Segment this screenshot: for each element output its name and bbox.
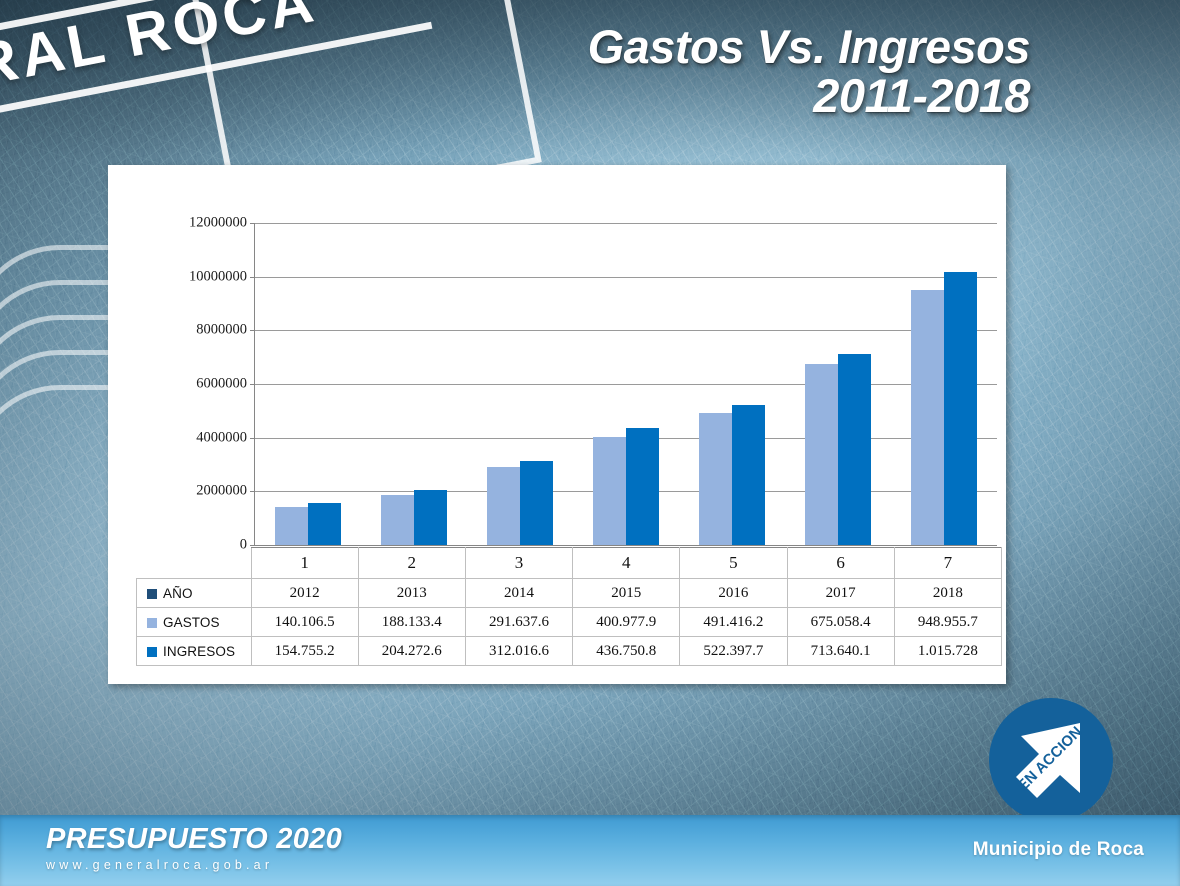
- x-axis-category: 4: [573, 548, 680, 579]
- bar-gastos[interactable]: [275, 507, 308, 545]
- table-row: INGRESOS154.755.2204.272.6312.016.6436.7…: [137, 637, 1002, 666]
- bar-ingresos[interactable]: [944, 272, 977, 545]
- y-axis-tick: [250, 545, 255, 546]
- y-axis-label: 8000000: [196, 322, 247, 339]
- x-axis-category: 3: [465, 548, 572, 579]
- bar-ingresos[interactable]: [520, 461, 553, 545]
- table-row-label: AÑO: [137, 579, 252, 608]
- table-cell: 2017: [787, 579, 894, 608]
- footer-org: Municipio de Roca: [973, 839, 1144, 861]
- en-accion-logo-icon: EN ACCION: [988, 697, 1114, 823]
- table-cell: 491.416.2: [680, 608, 787, 637]
- x-axis-category: 2: [358, 548, 465, 579]
- table-cell: 140.106.5: [251, 608, 358, 637]
- y-axis-label: 12000000: [189, 215, 247, 232]
- x-axis-row: 1234567: [137, 548, 1002, 579]
- y-axis-label: 4000000: [196, 429, 247, 446]
- table-cell: 188.133.4: [358, 608, 465, 637]
- table-cell: 2012: [251, 579, 358, 608]
- footer-brand-block: PRESUPUESTO 2020 www.generalroca.gob.ar: [46, 823, 342, 872]
- table-cell: 400.977.9: [573, 608, 680, 637]
- bar-series-container: [255, 223, 997, 545]
- bar-ingresos[interactable]: [308, 503, 341, 545]
- table-cell: 522.397.7: [680, 637, 787, 666]
- title-line-1: Gastos Vs. Ingresos: [588, 22, 1030, 71]
- table-cell: 2014: [465, 579, 572, 608]
- table-cell: 2018: [894, 579, 1001, 608]
- bar-ingresos[interactable]: [732, 405, 765, 545]
- table-cell: 312.016.6: [465, 637, 572, 666]
- table-row: AÑO2012201320142015201620172018: [137, 579, 1002, 608]
- bar-gastos[interactable]: [593, 437, 626, 545]
- chart-panel: 0200000040000006000000800000010000000120…: [108, 165, 1006, 684]
- gridline: [255, 545, 997, 546]
- x-axis-category: 7: [894, 548, 1001, 579]
- bar-group: [573, 223, 679, 545]
- table-row-label: GASTOS: [137, 608, 252, 637]
- x-axis-category: 5: [680, 548, 787, 579]
- table-cell: 948.955.7: [894, 608, 1001, 637]
- y-axis-label: 10000000: [189, 268, 247, 285]
- x-axis-corner: [137, 548, 252, 579]
- en-accion-badge: EN ACCION: [988, 697, 1114, 823]
- table-row: GASTOS140.106.5188.133.4291.637.6400.977…: [137, 608, 1002, 637]
- legend-swatch-icon: [147, 647, 157, 657]
- footer-bar: PRESUPUESTO 2020 www.generalroca.gob.ar …: [0, 815, 1180, 886]
- bar-group: [679, 223, 785, 545]
- bar-group: [467, 223, 573, 545]
- bar-group: [361, 223, 467, 545]
- table-cell: 2015: [573, 579, 680, 608]
- x-axis-category: 6: [787, 548, 894, 579]
- bar-ingresos[interactable]: [626, 428, 659, 545]
- footer-brand: PRESUPUESTO 2020: [46, 823, 342, 855]
- chart-data-table: 1234567AÑO2012201320142015201620172018GA…: [136, 547, 1002, 666]
- table-cell: 154.755.2: [251, 637, 358, 666]
- bar-ingresos[interactable]: [838, 354, 871, 545]
- table-cell: 291.637.6: [465, 608, 572, 637]
- y-axis-label: 2000000: [196, 483, 247, 500]
- table-cell: 204.272.6: [358, 637, 465, 666]
- legend-swatch-icon: [147, 589, 157, 599]
- footer-url[interactable]: www.generalroca.gob.ar: [46, 858, 342, 872]
- slide-canvas: NERAL ROCA Gastos Vs. Ingresos 2011-2018…: [0, 0, 1180, 886]
- title-line-2: 2011-2018: [588, 71, 1030, 120]
- bar-group: [891, 223, 997, 545]
- bar-gastos[interactable]: [487, 467, 520, 545]
- bar-group: [785, 223, 891, 545]
- table-cell: 2016: [680, 579, 787, 608]
- bar-gastos[interactable]: [381, 495, 414, 545]
- table-cell: 2013: [358, 579, 465, 608]
- table-cell: 713.640.1: [787, 637, 894, 666]
- legend-swatch-icon: [147, 618, 157, 628]
- plot-area: 0200000040000006000000800000010000000120…: [254, 223, 997, 545]
- x-axis-category: 1: [251, 548, 358, 579]
- bar-group: [255, 223, 361, 545]
- table-cell: 675.058.4: [787, 608, 894, 637]
- bar-ingresos[interactable]: [414, 490, 447, 545]
- y-axis-label: 6000000: [196, 376, 247, 393]
- bar-gastos[interactable]: [699, 413, 732, 545]
- table-cell: 1.015.728: [894, 637, 1001, 666]
- slide-title: Gastos Vs. Ingresos 2011-2018: [588, 22, 1030, 120]
- bar-gastos[interactable]: [911, 290, 944, 545]
- bar-gastos[interactable]: [805, 364, 838, 545]
- table-cell: 436.750.8: [573, 637, 680, 666]
- table-row-label: INGRESOS: [137, 637, 252, 666]
